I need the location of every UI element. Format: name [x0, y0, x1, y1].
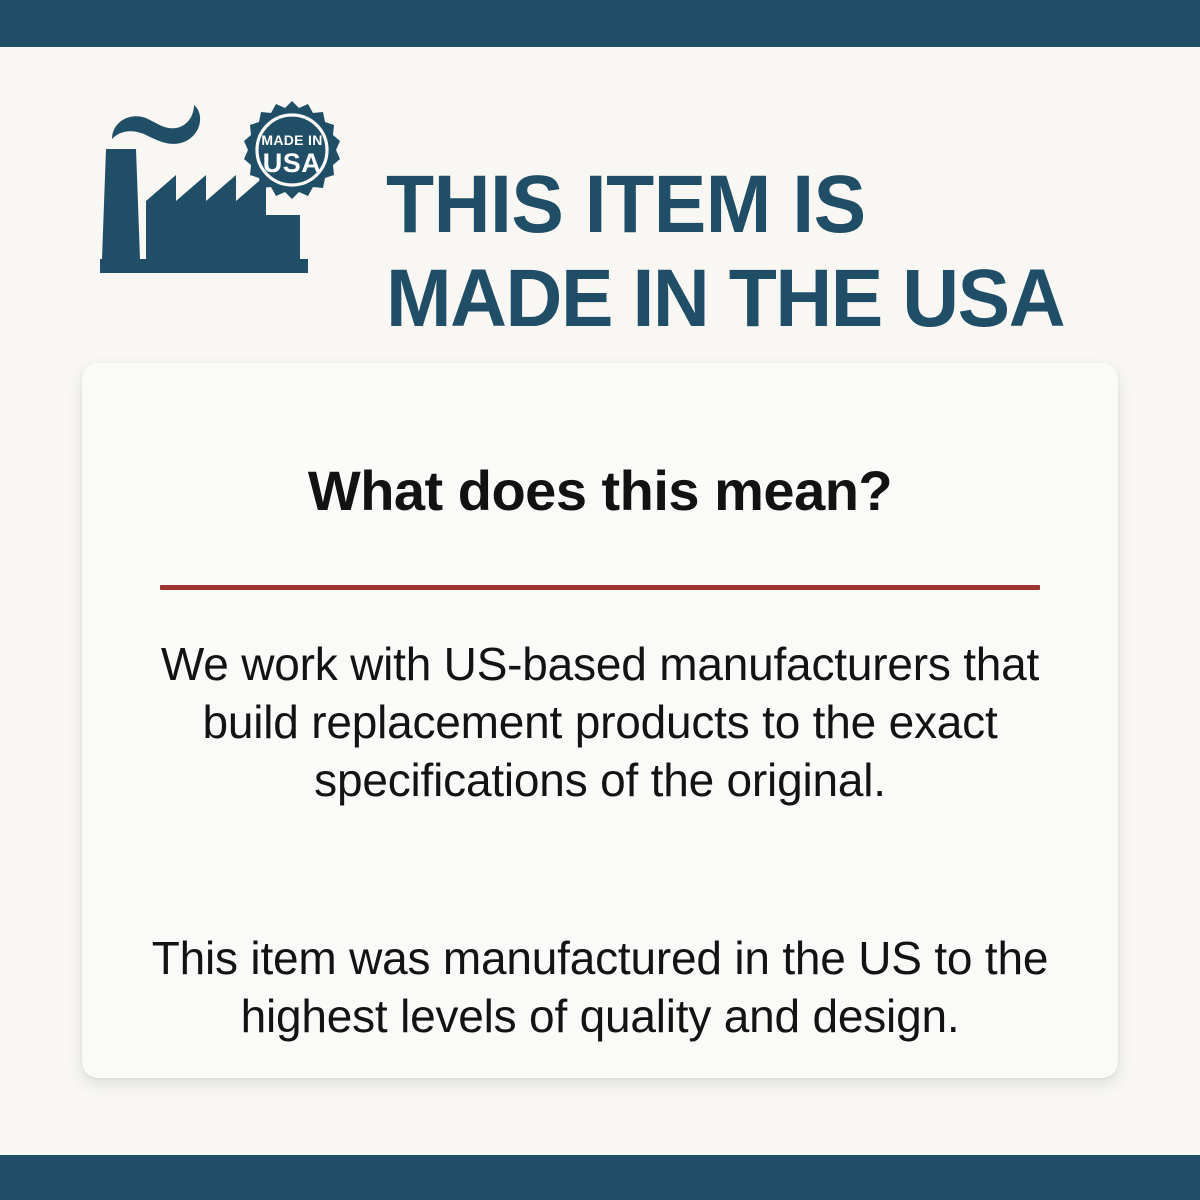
- page-title: THIS ITEM IS MADE IN THE USA: [386, 158, 1125, 346]
- card-paragraph-1: We work with US-based manufacturers that…: [130, 635, 1070, 809]
- bottom-frame-bar: [0, 1155, 1200, 1200]
- paragraph-spacer: [130, 809, 1070, 929]
- header: MADE IN USA THIS ITEM IS MADE IN THE USA: [0, 47, 1200, 297]
- badge-usa-label: USA: [263, 148, 322, 178]
- card-paragraph-2: This item was manufactured in the US to …: [130, 929, 1070, 1045]
- headline-line-1: THIS ITEM IS: [386, 158, 1125, 252]
- info-card: What does this mean? We work with US-bas…: [82, 363, 1118, 1078]
- headline-line-2: MADE IN THE USA: [386, 252, 1125, 346]
- top-frame-bar: [0, 0, 1200, 47]
- factory-made-in-usa-icon: MADE IN USA: [100, 99, 345, 284]
- badge-made-in-label: MADE IN: [261, 132, 322, 148]
- content-canvas: MADE IN USA THIS ITEM IS MADE IN THE USA…: [0, 47, 1200, 1155]
- card-body: We work with US-based manufacturers that…: [130, 635, 1070, 1045]
- card-title: What does this mean?: [82, 461, 1118, 521]
- card-divider: [160, 585, 1040, 590]
